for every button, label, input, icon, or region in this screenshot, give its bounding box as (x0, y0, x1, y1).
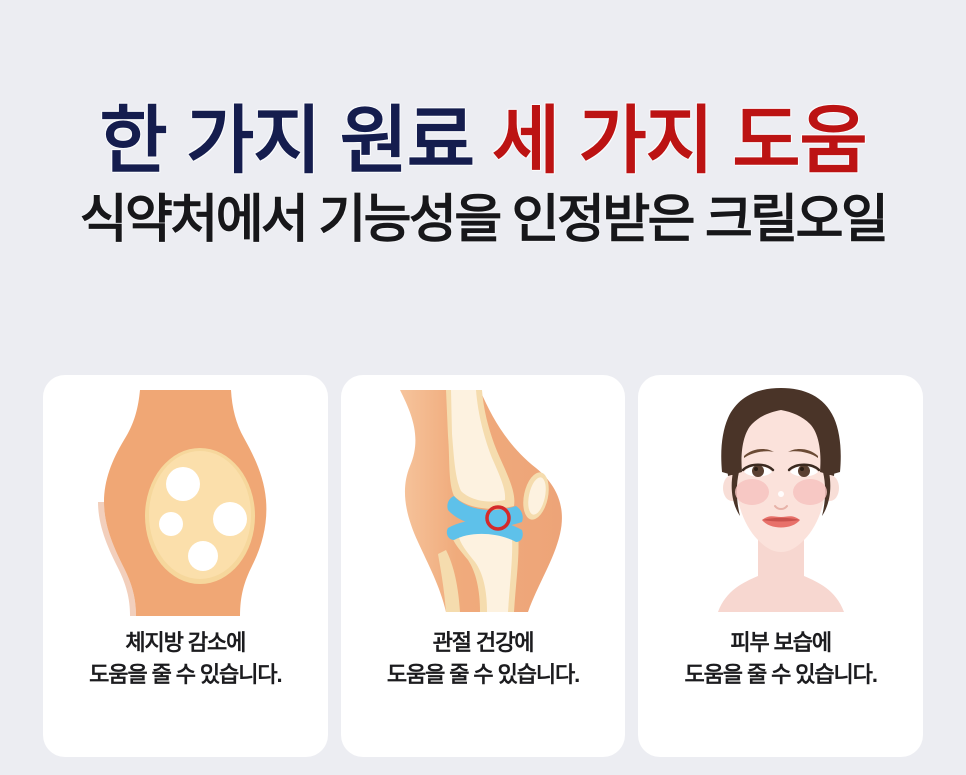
caption-line-2: 도움을 줄 수 있습니다. (685, 659, 877, 691)
benefit-card-joint-health[interactable]: 관절 건강에 도움을 줄 수 있습니다. (341, 375, 626, 757)
woman-face-icon (638, 375, 923, 627)
page-header: 한 가지 원료세 가지 도움 식약처에서 기능성을 인정받은 크릴오일 (0, 0, 966, 246)
benefit-card-body-fat[interactable]: 체지방 감소에 도움을 줄 수 있습니다. (43, 375, 328, 757)
page-title: 한 가지 원료세 가지 도움 (0, 104, 966, 178)
headline-segment-red: 세 가지 도움 (492, 99, 867, 182)
knee-joint-icon (341, 375, 626, 627)
benefit-card-caption: 체지방 감소에 도움을 줄 수 있습니다. (79, 627, 291, 691)
caption-line-2: 도움을 줄 수 있습니다. (89, 659, 281, 691)
caption-line-1: 관절 건강에 (387, 627, 579, 659)
caption-line-1: 피부 보습에 (685, 627, 877, 659)
belly-fat-icon (43, 375, 328, 627)
caption-line-2: 도움을 줄 수 있습니다. (387, 659, 579, 691)
headline-segment-navy: 한 가지 원료 (99, 99, 474, 182)
benefit-card-skin-moisture[interactable]: 피부 보습에 도움을 줄 수 있습니다. (638, 375, 923, 757)
benefit-card-caption: 관절 건강에 도움을 줄 수 있습니다. (377, 627, 589, 691)
promo-page: 한 가지 원료세 가지 도움 식약처에서 기능성을 인정받은 크릴오일 (0, 0, 966, 775)
caption-line-1: 체지방 감소에 (89, 627, 281, 659)
benefit-card-caption: 피부 보습에 도움을 줄 수 있습니다. (675, 627, 887, 691)
page-subtitle: 식약처에서 기능성을 인정받은 크릴오일 (0, 194, 966, 246)
benefit-card-list: 체지방 감소에 도움을 줄 수 있습니다. (43, 375, 923, 757)
